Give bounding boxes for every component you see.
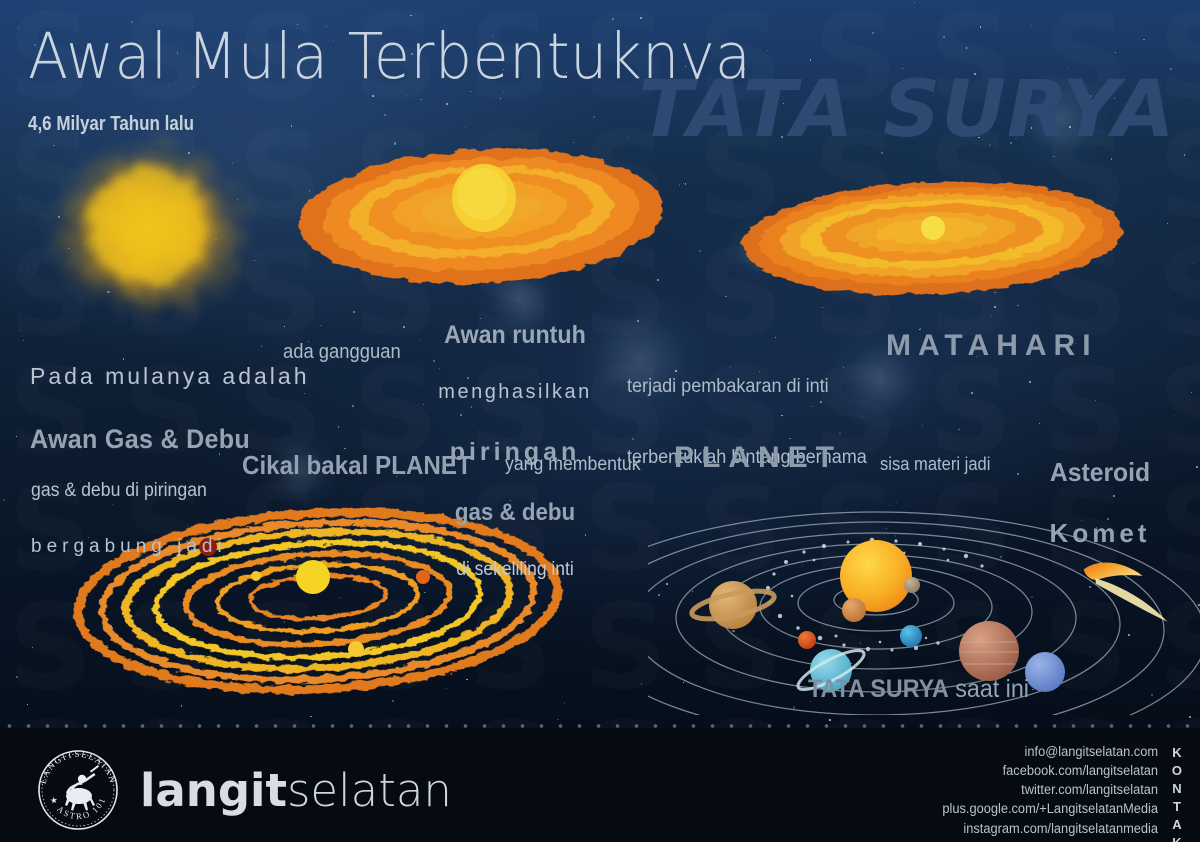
planet-neptune — [1025, 652, 1065, 692]
label-komet: Komet — [1025, 520, 1175, 547]
planet-venus — [842, 598, 866, 622]
caption-step-8: yang membentuk — [505, 455, 641, 475]
label-planet: PLANET — [674, 442, 842, 474]
wordmark-thin: selatan — [287, 764, 452, 817]
langitselatan-wordmark: langitselatan — [140, 764, 452, 817]
label-saat-ini: saat ini — [955, 675, 1029, 703]
infographic-poster: Awal Mula Terbentuknya 4,6 Milyar Tahun … — [0, 0, 1200, 842]
caption-step-10: sisa materi jadi — [880, 455, 990, 474]
planet-earth — [900, 625, 922, 647]
label-tata-surya: TATA SURYA — [808, 675, 949, 703]
caption-step-3-line-1: Awan runtuh — [431, 322, 598, 348]
wordmark-bold: langit — [140, 764, 287, 817]
caption-step-2: ada gangguan — [283, 342, 401, 363]
langitselatan-seal-logo: LANGITSELATAN ★ ASTRO 101 — [32, 744, 124, 836]
label-asteroid: Asteroid — [1029, 459, 1172, 486]
planet-mercury — [904, 577, 920, 593]
caption-step-3-line-4: gas & debu — [431, 500, 598, 525]
contact-list: info@langitselatan.com facebook.com/lang… — [942, 742, 1158, 838]
contact-email[interactable]: info@langitselatan.com — [942, 742, 1158, 761]
protostar-disk-illustration — [736, 166, 1128, 306]
caption-step-6-line-2: bergabung jadi — [31, 537, 227, 557]
kontak-vertical-label: KONTAK — [1172, 744, 1184, 842]
contact-facebook[interactable]: facebook.com/langitselatan — [942, 761, 1158, 780]
label-tata-surya-saat-ini: TATA SURYA saat ini — [808, 676, 1029, 702]
label-cikal-bakal-planet: Cikal bakal PLANET — [242, 452, 472, 479]
footer-divider — [0, 724, 1200, 728]
protosun — [296, 560, 330, 594]
planet-mars — [798, 631, 816, 649]
planet-saturn — [690, 581, 777, 629]
planet-jupiter — [959, 621, 1019, 681]
contact-instagram[interactable]: instagram.com/langitselatanmedia — [942, 819, 1158, 838]
caption-step-3-line-2: menghasilkan — [425, 382, 605, 403]
contact-twitter[interactable]: twitter.com/langitselatan — [942, 780, 1158, 799]
sagittarius-figure — [65, 765, 99, 811]
caption-step-4: terjadi pembakaran di inti terbentuklah … — [627, 327, 867, 517]
gas-dust-cloud-illustration — [10, 118, 290, 343]
label-matahari: MATAHARI — [886, 330, 1098, 362]
headline-tata-surya: TATA SURYA — [639, 70, 1176, 152]
caption-step-3-line-5: di sekeliling inti — [432, 560, 598, 580]
collapsing-cloud-disk-illustration — [296, 132, 666, 297]
contact-googleplus[interactable]: plus.google.com/+LangitselatanMedia — [942, 799, 1158, 818]
label-asteroid-komet: Asteroid Komet — [1025, 425, 1175, 581]
caption-step-6-line-1: gas & debu di piringan — [31, 481, 213, 501]
page-subtitle: 4,6 Milyar Tahun lalu — [28, 114, 194, 135]
caption-step-1-line-1: Pada mulanya adalah — [30, 364, 310, 388]
caption-step-6: gas & debu di piringan bergabung jadi — [31, 447, 227, 591]
caption-step-4-line-1: terjadi pembakaran di inti — [627, 375, 867, 399]
